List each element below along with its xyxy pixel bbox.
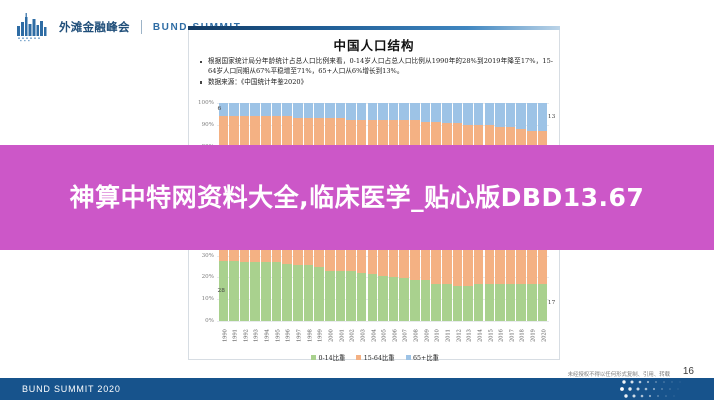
legend-item[interactable]: 65+比重: [406, 353, 439, 362]
bar-segment: [336, 103, 346, 118]
x-axis-tick: 2005: [378, 323, 388, 349]
chart-legend: 0-14比重15-64比重65+比重: [189, 353, 561, 362]
legend-label: 15-64比重: [364, 353, 395, 362]
x-axis-tick: 2019: [527, 323, 537, 349]
bar-segment: [261, 103, 271, 116]
x-axis-tick: 2020: [538, 323, 548, 349]
watermark-overlay: 神算中特网资料大全,临床医学_贴心版DBD13.67: [0, 145, 714, 250]
x-axis-tick: 2007: [399, 323, 409, 349]
bullet-list: 根据国家统计局分年龄统计占总人口比例来看，0-14岁人口占总人口比例从1990年…: [189, 57, 559, 87]
x-axis-tick: 2000: [325, 323, 335, 349]
x-axis-tick: 1997: [293, 323, 303, 349]
x-axis-tick: 1993: [250, 323, 260, 349]
bar-segment: [495, 284, 505, 321]
legend-item[interactable]: 0-14比重: [311, 353, 345, 362]
skyline-logo-icon: [14, 12, 52, 42]
x-axis-tick: 1992: [240, 323, 250, 349]
bar-segment: [410, 103, 420, 120]
bar-segment: [282, 264, 292, 321]
bar-segment: [229, 261, 239, 321]
x-axis-tick: 1994: [261, 323, 271, 349]
bar-segment: [516, 103, 526, 129]
bar-segment: [389, 103, 399, 120]
bar-segment: [485, 284, 495, 321]
bar-segment: [357, 273, 367, 321]
bar-segment: [442, 284, 452, 321]
bullet-item: 根据国家统计局分年龄统计占总人口比例来看，0-14岁人口占总人口比例从1990年…: [199, 57, 553, 76]
x-axis-tick: 2003: [357, 323, 367, 349]
bar-segment: [431, 284, 441, 321]
x-axis-tick: 2008: [410, 323, 420, 349]
bar-segment: [346, 103, 356, 120]
x-axis-tick: 2018: [516, 323, 526, 349]
x-axis-tick: 2004: [368, 323, 378, 349]
bar-segment: [538, 284, 548, 321]
bar-segment: [463, 286, 473, 321]
bar-segment: [474, 103, 484, 125]
y-axis-tick: 100%: [198, 100, 214, 106]
bar-segment: [453, 103, 463, 123]
x-axis-tick: 2013: [463, 323, 473, 349]
bar-segment: [304, 265, 314, 321]
bar-segment: [357, 103, 367, 120]
data-label: 13: [548, 114, 555, 120]
page-number: 16: [683, 366, 694, 377]
bar-segment: [453, 286, 463, 321]
x-axis-tick: 2002: [346, 323, 356, 349]
bar-segment: [282, 103, 292, 116]
bar-segment: [431, 103, 441, 122]
x-axis-tick: 2011: [442, 323, 452, 349]
y-axis-tick: 20%: [202, 274, 214, 280]
bar-segment: [250, 262, 260, 321]
bar-segment: [495, 103, 505, 127]
legend-label: 0-14比重: [319, 353, 346, 362]
slide-canvas: 外滩金融峰会 BUND SUMMIT 中国人口结构 根据国家统计局分年龄统计占总…: [0, 0, 714, 400]
data-label: 28: [218, 288, 225, 294]
bar-segment: [399, 103, 409, 120]
bar-segment: [527, 103, 537, 131]
x-axis-tick: 2012: [453, 323, 463, 349]
bar-segment: [516, 284, 526, 321]
y-axis-tick: 10%: [202, 296, 214, 302]
bar-segment: [240, 103, 250, 116]
watermark-text: 神算中特网资料大全,临床医学_贴心版DBD13.67: [37, 182, 677, 214]
bar-segment: [389, 277, 399, 321]
bar-segment: [474, 284, 484, 321]
x-axis-tick: 2015: [485, 323, 495, 349]
bar-segment: [506, 103, 516, 127]
x-axis-tick: 2009: [421, 323, 431, 349]
data-label: 6: [218, 106, 222, 112]
x-axis-tick: 1991: [229, 323, 239, 349]
bar-segment: [325, 271, 335, 321]
x-axis-tick: 1990: [219, 323, 229, 349]
bar-segment: [261, 262, 271, 321]
bar-segment: [336, 271, 346, 321]
legend-item[interactable]: 15-64比重: [356, 353, 394, 362]
legend-swatch: [356, 355, 361, 360]
x-axis-tick: 1996: [282, 323, 292, 349]
bar-segment: [506, 284, 516, 321]
x-axis-labels: 1990199119921993199419951996199719981999…: [217, 323, 549, 349]
bar-segment: [325, 103, 335, 118]
data-label: 17: [548, 300, 555, 306]
bar-segment: [272, 103, 282, 116]
bar-segment: [368, 103, 378, 120]
bar-segment: [346, 271, 356, 321]
logo-text-cn: 外滩金融峰会: [59, 19, 130, 35]
bar-segment: [410, 280, 420, 321]
bar-segment: [485, 103, 495, 125]
bar-segment: [421, 280, 431, 321]
x-axis-tick: 2001: [336, 323, 346, 349]
y-axis-tick: 30%: [202, 253, 214, 259]
bar-segment: [368, 274, 378, 321]
bar-segment: [229, 103, 239, 116]
gridline: [217, 321, 549, 322]
x-axis-tick: 1998: [304, 323, 314, 349]
bullet-item: 数据来源：《中国统计年鉴2020》: [199, 78, 553, 88]
bar-segment: [314, 267, 324, 322]
x-axis-tick: 1995: [272, 323, 282, 349]
bar-segment: [293, 265, 303, 321]
footer-label: BUND SUMMIT 2020: [22, 384, 121, 394]
x-axis-tick: 2010: [431, 323, 441, 349]
bar-segment: [240, 262, 250, 321]
bar-segment: [527, 284, 537, 321]
legend-label: 65+比重: [413, 353, 439, 362]
bar-segment: [378, 103, 388, 120]
bar-segment: [250, 103, 260, 116]
bar-segment: [399, 278, 409, 321]
x-axis-tick: 2014: [474, 323, 484, 349]
x-axis-tick: 1999: [314, 323, 324, 349]
legend-swatch: [311, 355, 316, 360]
bar-segment: [538, 103, 548, 131]
bar-segment: [463, 103, 473, 125]
footer-bar: BUND SUMMIT 2020: [0, 378, 714, 400]
x-axis-tick: 2006: [389, 323, 399, 349]
x-axis-tick: 2016: [495, 323, 505, 349]
logo-divider: [141, 20, 142, 34]
copyright-note: 未经授权不得以任何形式复制、引用、转载: [568, 370, 670, 378]
y-axis-tick: 90%: [202, 122, 214, 128]
x-axis-tick: 2017: [506, 323, 516, 349]
bar-segment: [314, 103, 324, 118]
legend-swatch: [406, 355, 411, 360]
chart-title: 中国人口结构: [189, 35, 559, 54]
footer-dot-pattern-icon: [618, 378, 714, 400]
bar-segment: [272, 262, 282, 321]
bar-segment: [378, 276, 388, 321]
bar-segment: [421, 103, 431, 122]
bar-segment: [442, 103, 452, 123]
y-axis-tick: 0%: [205, 318, 214, 324]
bar-segment: [304, 103, 314, 118]
bar-segment: [293, 103, 303, 118]
